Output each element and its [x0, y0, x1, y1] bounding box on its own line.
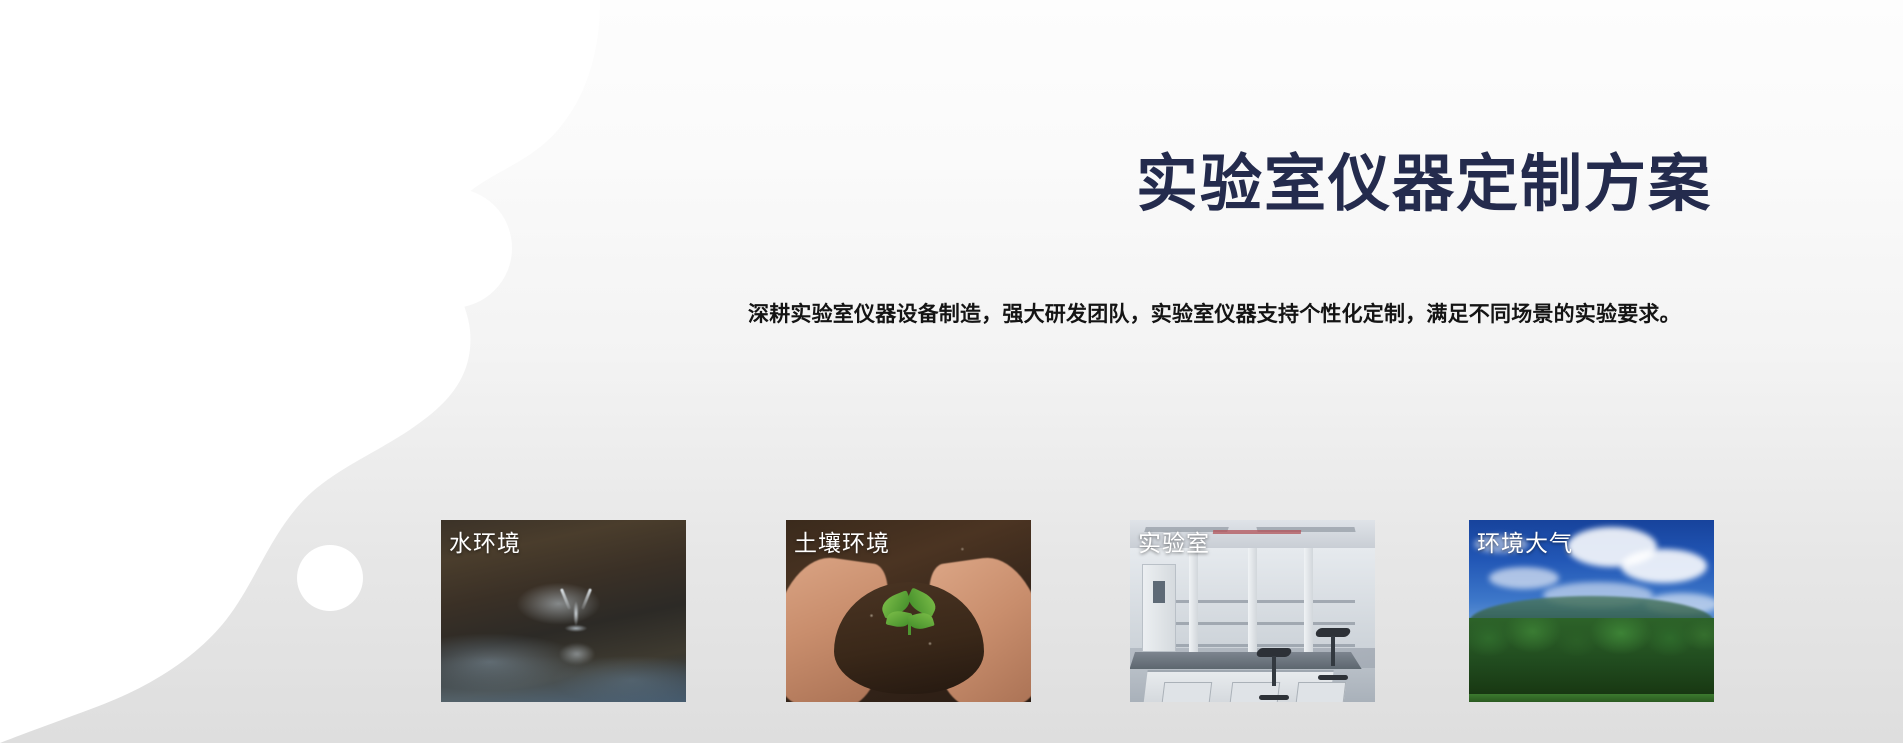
category-card-list: 水环境 土壤环境	[441, 520, 1716, 702]
ceiling-pipe-shape	[1213, 530, 1302, 534]
category-card-label: 土壤环境	[794, 526, 890, 560]
bench-cabinet-shape	[1142, 670, 1334, 702]
decorative-circle-bottom	[297, 545, 363, 611]
grass-shape	[1469, 694, 1714, 702]
page-title: 实验室仪器定制方案	[0, 149, 1712, 221]
drawer-shape	[1161, 682, 1212, 702]
category-card-label: 实验室	[1138, 526, 1210, 560]
hero-banner: 实验室仪器定制方案 深耕实验室仪器设备制造，强大研发团队，实验室仪器支持个性化定…	[0, 0, 1903, 743]
water-splash-shape	[554, 586, 598, 632]
category-card-label: 环境大气	[1477, 526, 1573, 560]
water-sheen-shape	[441, 656, 686, 702]
category-card-label: 水环境	[449, 526, 521, 560]
category-card-water[interactable]: 水环境	[441, 520, 686, 702]
page-subtitle: 深耕实验室仪器设备制造，强大研发团队，实验室仪器支持个性化定制，满足不同场景的实…	[748, 296, 1712, 334]
drawer-shape	[1295, 682, 1346, 702]
column-shape	[1189, 548, 1198, 652]
lab-stool-shape	[1316, 628, 1350, 680]
category-card-laboratory[interactable]: 实验室	[1130, 520, 1375, 702]
cabinet-shape	[1142, 564, 1176, 652]
forest-shape	[1469, 618, 1714, 702]
column-shape	[1248, 548, 1257, 652]
category-card-atmosphere[interactable]: 环境大气	[1469, 520, 1714, 702]
column-shape	[1304, 548, 1313, 652]
lab-stool-shape	[1257, 648, 1291, 700]
cloud-shape	[1489, 567, 1559, 589]
cloud-shape	[1621, 549, 1707, 583]
control-panel-shape	[1153, 581, 1165, 603]
category-card-soil[interactable]: 土壤环境	[786, 520, 1031, 702]
